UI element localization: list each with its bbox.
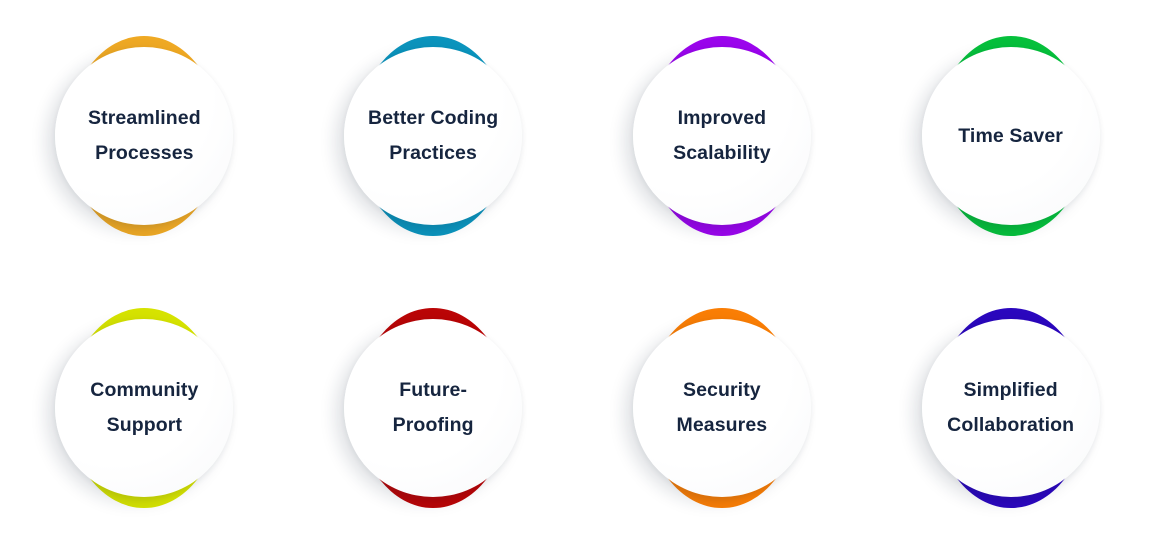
badge-label: Future- Proofing — [347, 373, 519, 443]
badge-label: Streamlined Processes — [58, 101, 230, 171]
badge-future-proofing[interactable]: Future- Proofing — [333, 303, 533, 513]
badge-label: Simplified Collaboration — [925, 373, 1097, 443]
badge-improved-scalability[interactable]: Improved Scalability — [622, 31, 822, 241]
badge-time-saver[interactable]: Time Saver — [911, 31, 1111, 241]
badge-community-support[interactable]: Community Support — [44, 303, 244, 513]
badge-label: Improved Scalability — [636, 101, 808, 171]
badge-streamlined-processes[interactable]: Streamlined Processes — [44, 31, 244, 241]
badge-label: Security Measures — [636, 373, 808, 443]
badge-security-measures[interactable]: Security Measures — [622, 303, 822, 513]
badge-simplified-collaboration[interactable]: Simplified Collaboration — [911, 303, 1111, 513]
badge-label: Better Coding Practices — [347, 101, 519, 171]
badge-better-coding-practices[interactable]: Better Coding Practices — [333, 31, 533, 241]
benefits-infographic: Streamlined Processes Better Coding Prac… — [0, 0, 1155, 544]
badge-grid: Streamlined Processes Better Coding Prac… — [0, 0, 1155, 544]
badge-label: Time Saver — [925, 121, 1097, 151]
badge-label: Community Support — [58, 373, 230, 443]
